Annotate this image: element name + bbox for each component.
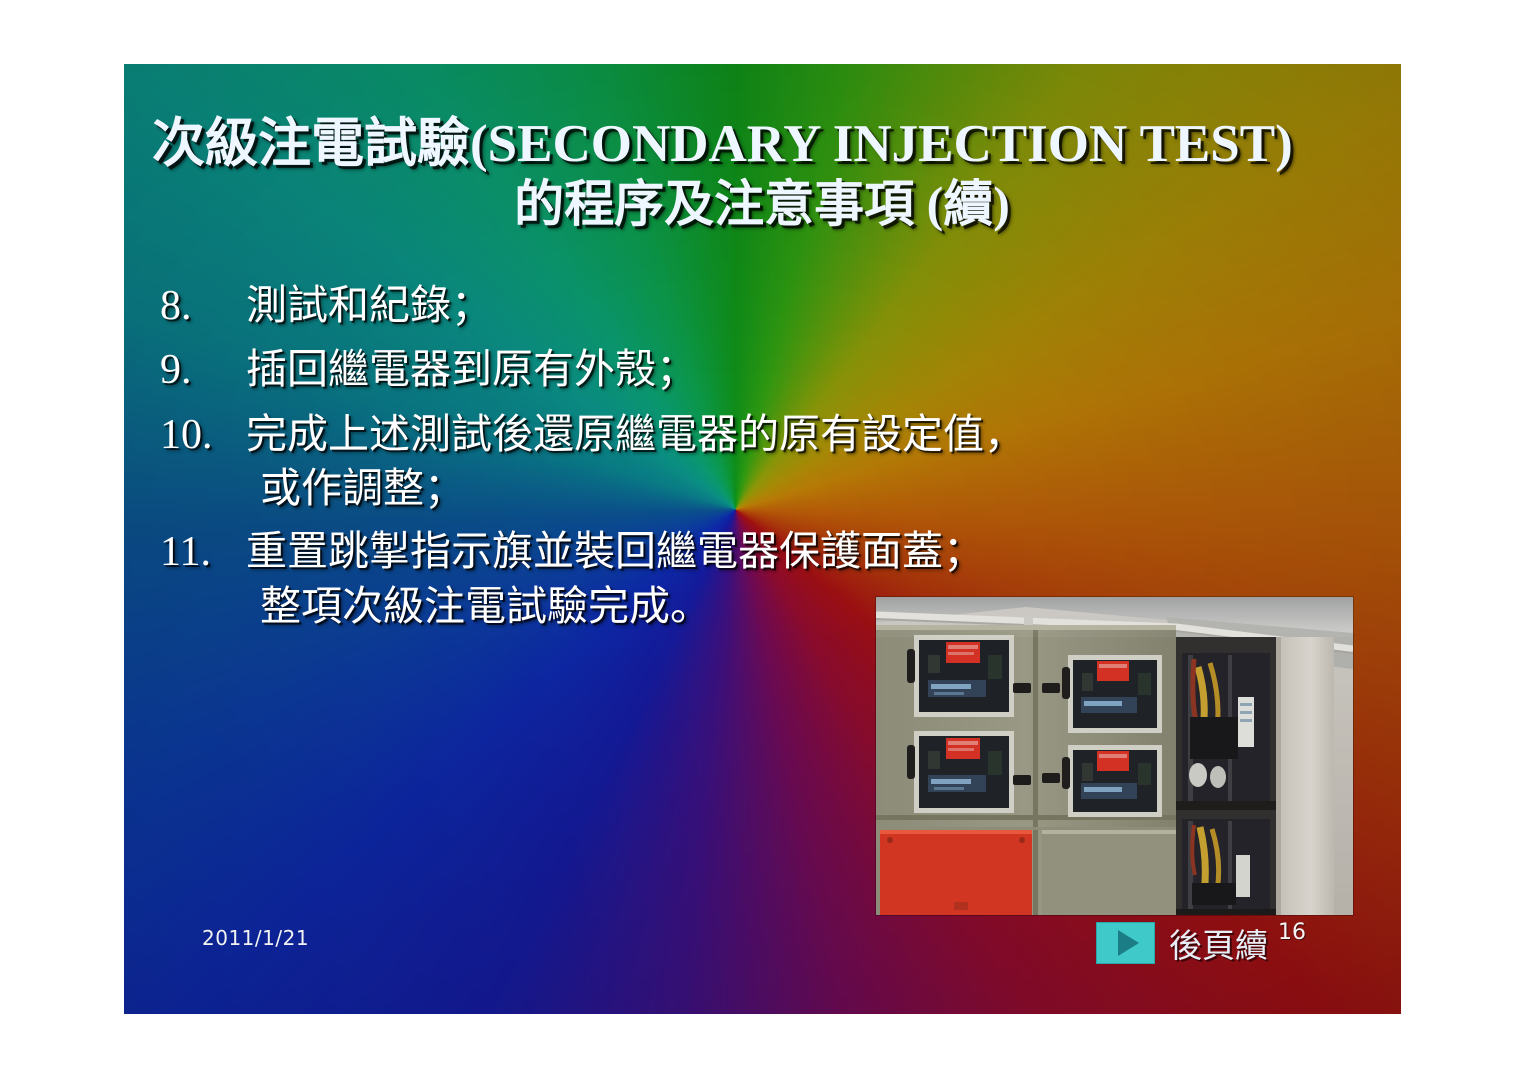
list-item-line: 插回繼電器到原有外殼； bbox=[246, 342, 1200, 397]
switchgear-panel-photo bbox=[876, 597, 1353, 915]
list-item-line: 重置跳掣指示旗並裝回繼電器保護面蓋； bbox=[246, 524, 1200, 579]
list-item-line: 完成上述測試後還原繼電器的原有設定值， bbox=[246, 407, 1200, 462]
list-item-number: 10. bbox=[160, 407, 246, 463]
slide-title: 次級注電試驗(SECONDARY INJECTION TEST) 的程序及注意事… bbox=[142, 116, 1382, 231]
list-item-number: 8. bbox=[160, 278, 246, 334]
list-item: 10. 完成上述測試後還原繼電器的原有設定值， 或作調整； bbox=[160, 407, 1200, 517]
next-page-nav[interactable]: 後頁續 bbox=[1096, 919, 1268, 967]
list-item-number: 11. bbox=[160, 524, 246, 580]
play-triangle-glyph bbox=[1118, 930, 1139, 956]
list-item-body: 測試和紀錄； bbox=[246, 278, 1200, 333]
list-item-body: 完成上述測試後還原繼電器的原有設定值， 或作調整； bbox=[246, 407, 1200, 517]
title-line-primary: 次級注電試驗(SECONDARY INJECTION TEST) bbox=[142, 116, 1382, 172]
list-item-body: 插回繼電器到原有外殼； bbox=[246, 342, 1200, 397]
list-item-line: 測試和紀錄； bbox=[246, 278, 1200, 333]
title-line-secondary: 的程序及注意事項 (續) bbox=[142, 178, 1382, 231]
list-item-line: 或作調整； bbox=[246, 461, 1200, 516]
list-item-number: 9. bbox=[160, 342, 246, 398]
next-page-label: 後頁續 bbox=[1169, 919, 1268, 967]
list-item: 8. 測試和紀錄； bbox=[160, 278, 1200, 334]
play-triangle-icon[interactable] bbox=[1096, 922, 1155, 964]
list-item: 9. 插回繼電器到原有外殼； bbox=[160, 342, 1200, 398]
slide-date: 2011/1/21 bbox=[202, 926, 309, 950]
page-number: 16 bbox=[1278, 920, 1306, 945]
slide-canvas: 次級注電試驗(SECONDARY INJECTION TEST) 的程序及注意事… bbox=[124, 64, 1401, 1014]
numbered-procedure-list: 8. 測試和紀錄； 9. 插回繼電器到原有外殼； 10. 完成上述測試後還原繼電… bbox=[160, 278, 1200, 642]
